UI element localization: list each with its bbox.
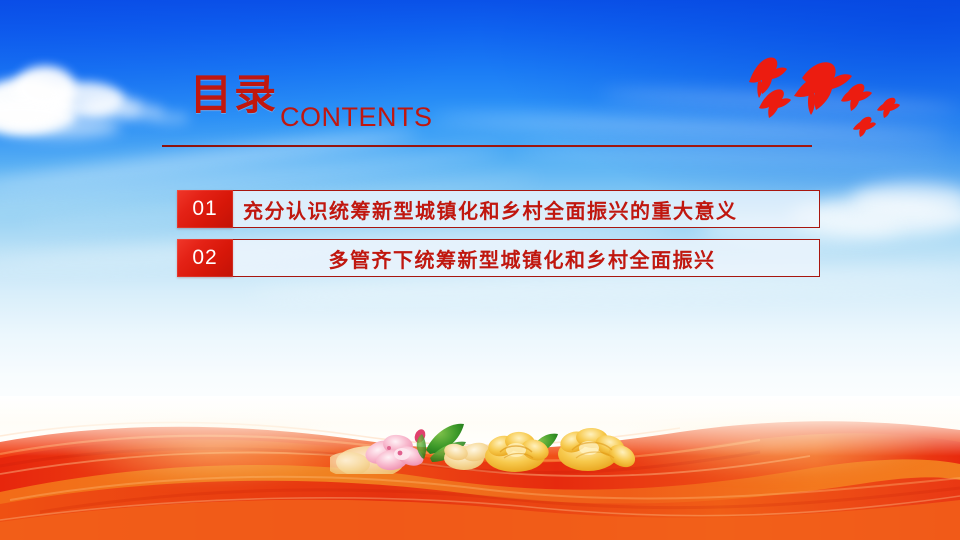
flower-cluster-decoration xyxy=(330,412,640,474)
contents-list: 01 充分认识统筹新型城镇化和乡村全面振兴的重大意义 02 多管齐下统筹新型城镇… xyxy=(177,190,820,288)
title-english: CONTENTS xyxy=(280,104,433,131)
title-underline xyxy=(162,145,812,147)
list-item-label: 多管齐下统筹新型城镇化和乡村全面振兴 xyxy=(233,244,819,273)
list-item-label: 充分认识统筹新型城镇化和乡村全面振兴的重大意义 xyxy=(233,195,819,224)
title-chinese: 目录 xyxy=(190,74,278,116)
item-bar[interactable]: 充分认识统筹新型城镇化和乡村全面振兴的重大意义 xyxy=(233,190,820,228)
item-number-badge: 01 xyxy=(177,190,233,228)
page-title: 目录 CONTENTS xyxy=(162,78,822,150)
cloud-puff xyxy=(0,116,120,138)
presentation-slide: 目录 CONTENTS 01 充分认识统筹新型城镇化和乡村全面振兴的重大意义 0… xyxy=(0,0,960,540)
item-number-badge: 02 xyxy=(177,239,233,277)
warm-glow-right xyxy=(600,410,940,480)
item-bar[interactable]: 多管齐下统筹新型城镇化和乡村全面振兴 xyxy=(233,239,820,277)
list-item[interactable]: 02 多管齐下统筹新型城镇化和乡村全面振兴 xyxy=(177,239,820,277)
warm-glow-left xyxy=(60,416,360,486)
cloud-puff xyxy=(852,182,960,216)
list-item[interactable]: 01 充分认识统筹新型城镇化和乡村全面振兴的重大意义 xyxy=(177,190,820,228)
